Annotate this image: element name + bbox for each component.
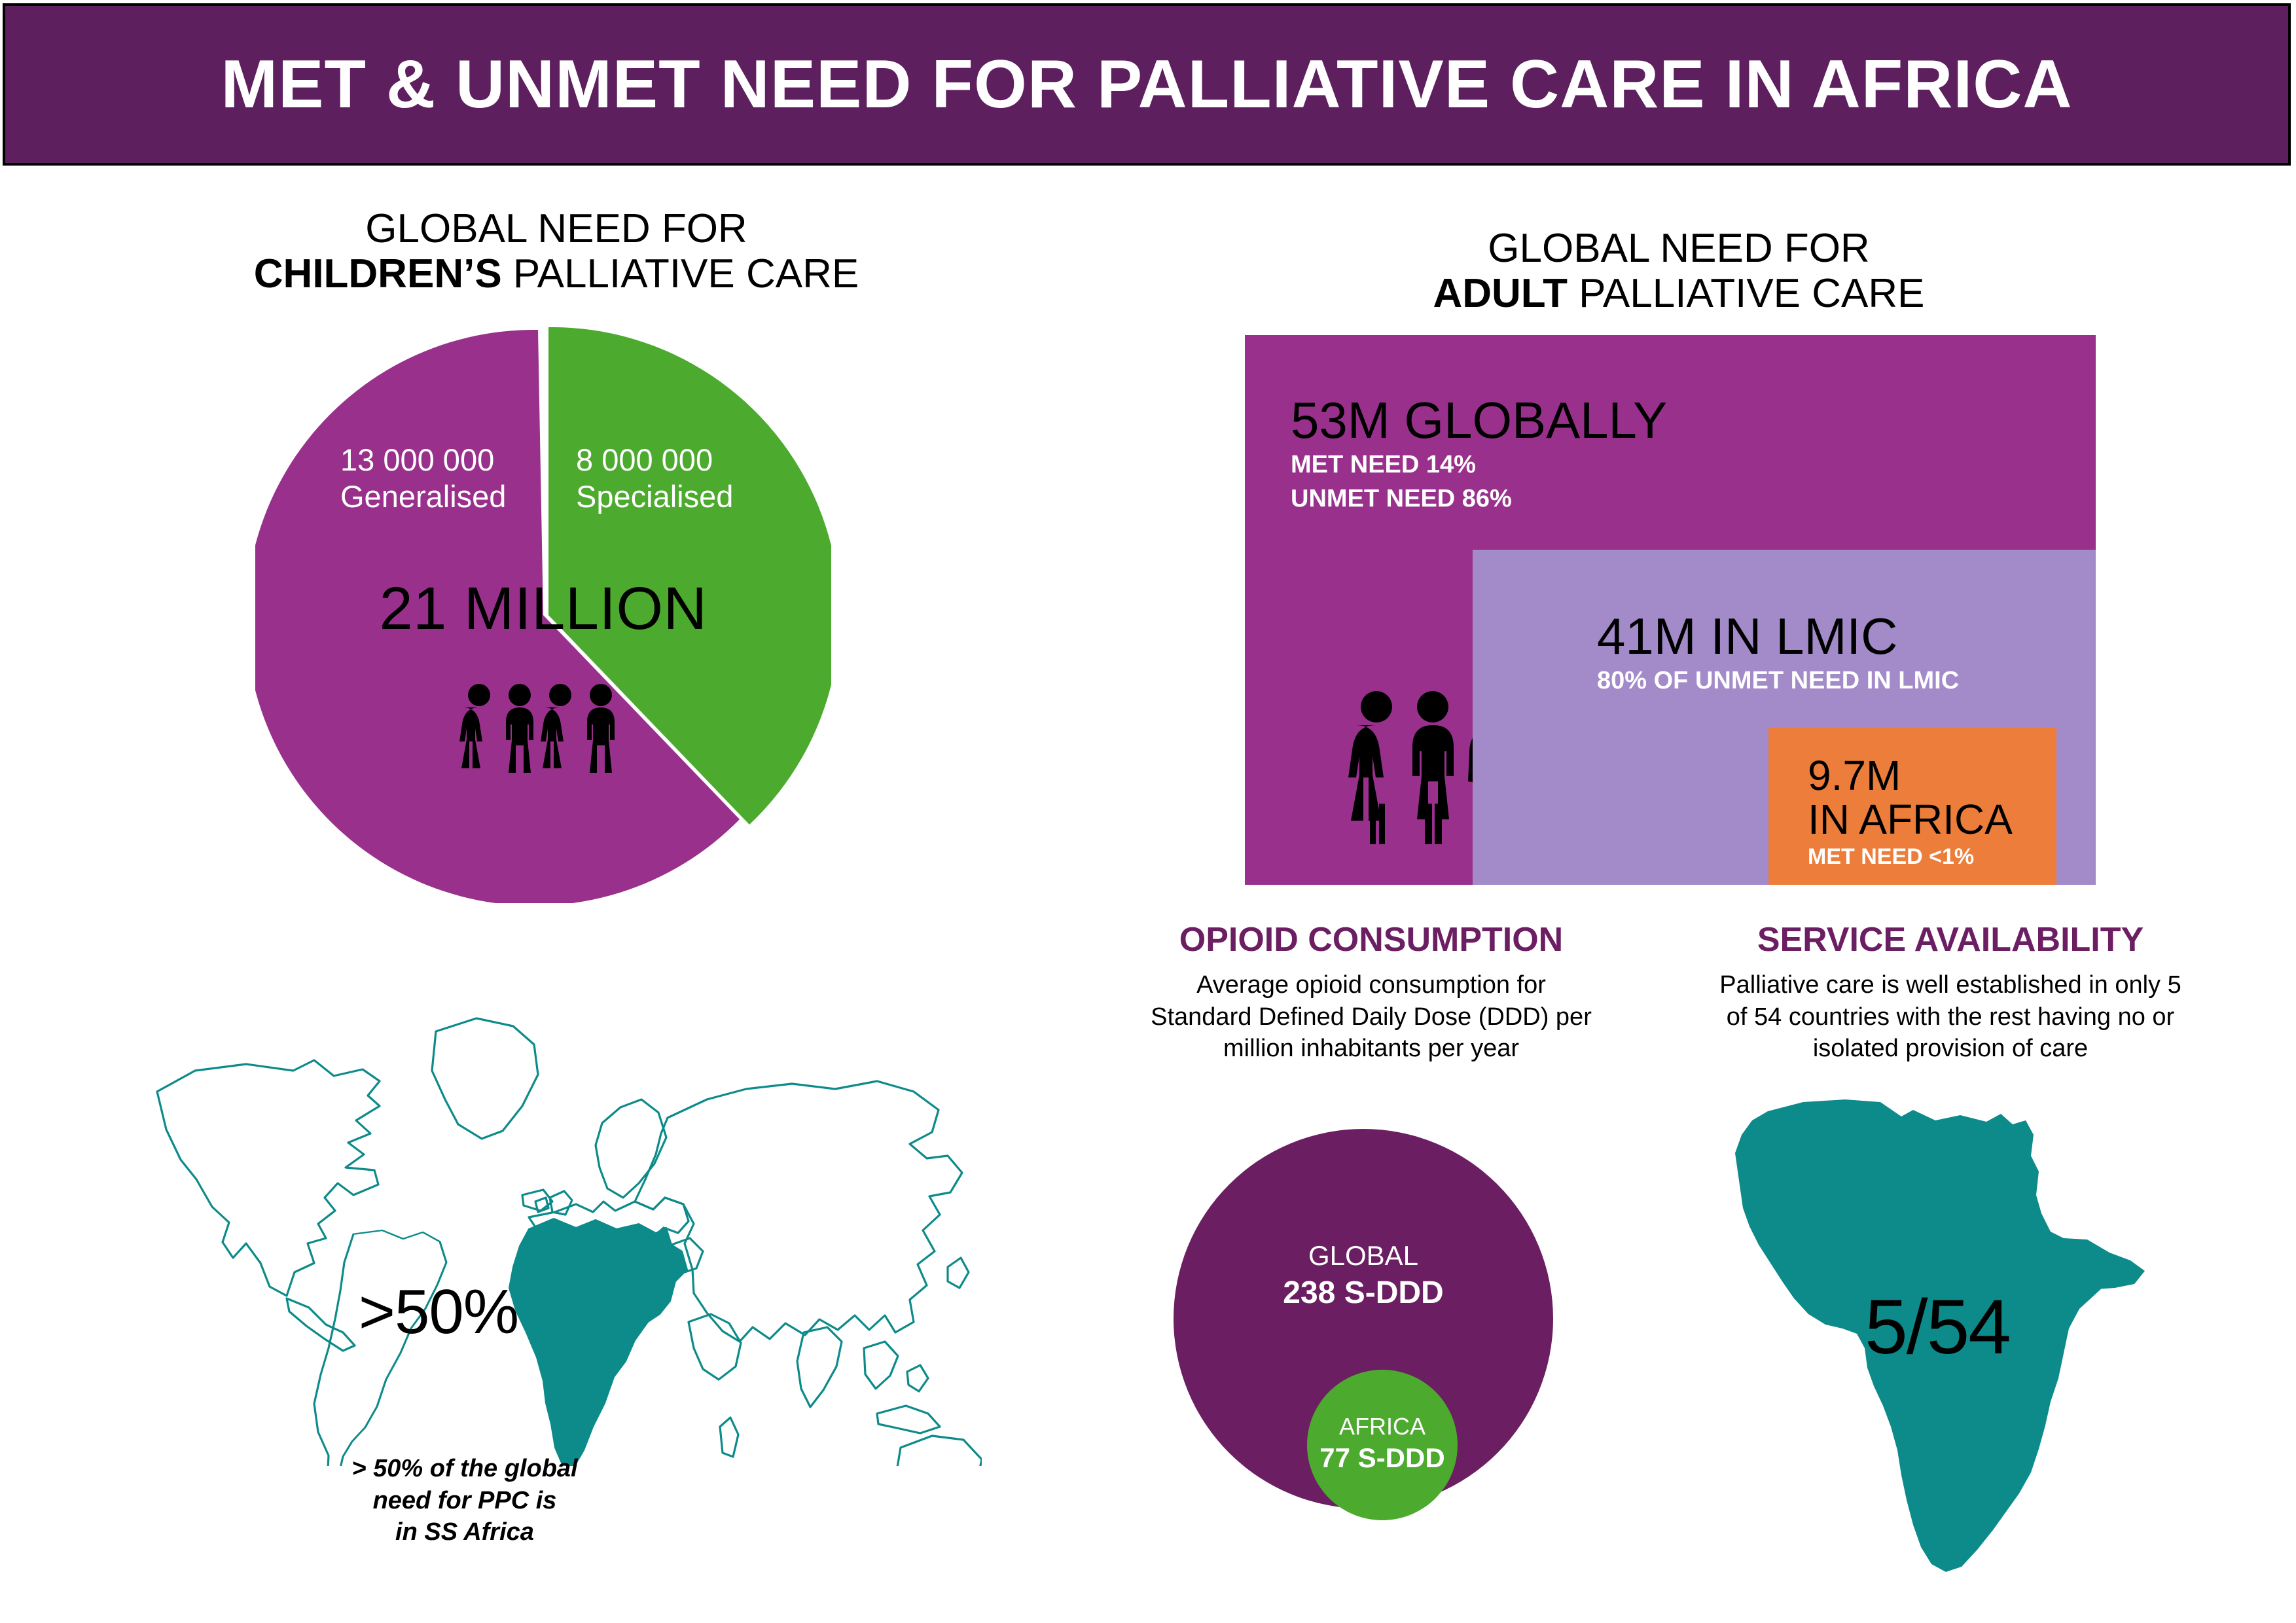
header-banner: MET & UNMET NEED FOR PALLIATIVE CARE IN …	[3, 3, 2291, 166]
africa-circle-label: AFRICA 77 S-DDD	[1307, 1412, 1458, 1476]
world-map-svg	[118, 1008, 982, 1466]
adult-heading-line1: GLOBAL NEED FOR	[1302, 226, 2055, 271]
global-headline: 53M GLOBALLY	[1291, 394, 1667, 448]
global-unmet-need: UNMET NEED 86%	[1291, 482, 1667, 516]
four-children-icon	[255, 681, 831, 782]
africa-circle-name: AFRICA	[1339, 1413, 1426, 1440]
circle-africa-77: AFRICA 77 S-DDD	[1307, 1370, 1458, 1520]
adult-heading-line2: ADULT PALLIATIVE CARE	[1302, 271, 2055, 316]
africa-box-text: 9.7M IN AFRICA MET NEED <1%	[1808, 754, 2013, 872]
service-desc-line1: Palliative care is well established in o…	[1682, 969, 2219, 1001]
australia-outline	[895, 1436, 982, 1466]
service-panel-title: SERVICE AVAILABILITY	[1682, 921, 2219, 959]
children-section-heading: GLOBAL NEED FOR CHILDREN’S PALLIATIVE CA…	[196, 206, 916, 297]
japan-outline	[948, 1258, 969, 1288]
pie-name-generalised: Generalised	[340, 478, 506, 515]
madagascar-outline	[720, 1418, 738, 1457]
world-map-caption: > 50% of the global need for PPC is in S…	[262, 1453, 668, 1548]
adult-heading-bold: ADULT	[1433, 271, 1567, 316]
lmic-box-text: 41M IN LMIC 80% OF UNMET NEED IN LMIC	[1597, 610, 1959, 698]
page-title: MET & UNMET NEED FOR PALLIATIVE CARE IN …	[221, 50, 2073, 118]
global-met-need: MET NEED 14%	[1291, 448, 1667, 482]
opioid-nested-circles: GLOBAL 238 S-DDD AFRICA 77 S-DDD	[1142, 1129, 1587, 1554]
india-outline	[797, 1327, 842, 1407]
map-caption-line1: > 50% of the global	[262, 1453, 668, 1485]
pie-label-specialised: 8 000 000 Specialised	[576, 442, 733, 516]
scandinavia-outline	[596, 1099, 666, 1198]
service-panel-description: Palliative care is well established in o…	[1682, 969, 2219, 1065]
children-heading-bold: CHILDREN’S	[254, 251, 502, 296]
global-circle-label: GLOBAL 238 S-DDD	[1174, 1239, 1553, 1313]
pie-label-generalised: 13 000 000 Generalised	[340, 442, 506, 516]
service-availability-panel: SERVICE AVAILABILITY Palliative care is …	[1682, 921, 2219, 1065]
africa-circle-value: 77 S-DDD	[1307, 1441, 1458, 1476]
south-america-outline	[314, 1230, 446, 1466]
world-map: >50%	[118, 1008, 982, 1479]
opioid-panel-title: OPIOID CONSUMPTION	[1106, 921, 1636, 959]
africa-sub: MET NEED <1%	[1808, 842, 2013, 872]
global-circle-name: GLOBAL	[1308, 1240, 1418, 1271]
southeast-asia-outline	[864, 1342, 898, 1389]
pie-total-label: 21 MILLION	[255, 575, 831, 643]
adult-heading-rest: PALLIATIVE CARE	[1568, 271, 1925, 316]
africa-headline-line2: IN AFRICA	[1808, 798, 2013, 842]
opioid-desc-line3: million inhabitants per year	[1106, 1033, 1636, 1065]
service-ratio-label: 5/54	[1705, 1283, 2170, 1372]
box-africa-9-7m: 9.7M IN AFRICA MET NEED <1%	[1768, 728, 2056, 885]
british-isles-outline	[550, 1191, 572, 1215]
opioid-consumption-panel: OPIOID CONSUMPTION Average opioid consum…	[1106, 921, 1636, 1065]
adult-nested-boxes: 53M GLOBALLY MET NEED 14% UNMET NEED 86%	[1245, 335, 2096, 885]
children-heading-line1: GLOBAL NEED FOR	[196, 206, 916, 251]
global-circle-value: 238 S-DDD	[1174, 1274, 1553, 1313]
lmic-sub: 80% OF UNMET NEED IN LMIC	[1597, 664, 1959, 698]
opioid-desc-line1: Average opioid consumption for	[1106, 969, 1636, 1001]
service-desc-line2: of 54 countries with the rest having no …	[1682, 1001, 2219, 1033]
opioid-desc-line2: Standard Defined Daily Dose (DDD) per	[1106, 1001, 1636, 1033]
children-heading-line2: CHILDREN’S PALLIATIVE CARE	[196, 251, 916, 296]
philippines-outline	[907, 1365, 928, 1391]
lmic-headline: 41M IN LMIC	[1597, 610, 1959, 664]
asia-outline	[635, 1081, 962, 1342]
pie-value-generalised: 13 000 000	[340, 442, 506, 478]
africa-headline-line1: 9.7M	[1808, 754, 2013, 798]
adult-section-heading: GLOBAL NEED FOR ADULT PALLIATIVE CARE	[1302, 226, 2055, 317]
service-desc-line3: isolated provision of care	[1682, 1033, 2219, 1065]
pie-name-specialised: Specialised	[576, 478, 733, 515]
opioid-panel-description: Average opioid consumption for Standard …	[1106, 969, 1636, 1065]
children-pie-chart: 13 000 000 Generalised 8 000 000 Special…	[255, 327, 831, 903]
greenland-outline	[432, 1018, 538, 1139]
children-heading-rest: PALLIATIVE CARE	[502, 251, 859, 296]
map-percent-label: >50%	[308, 1276, 569, 1348]
pie-value-specialised: 8 000 000	[576, 442, 733, 478]
africa-map: 5/54	[1705, 1098, 2170, 1576]
indonesia-outline	[877, 1406, 940, 1433]
north-america-outline	[157, 1060, 380, 1296]
global-box-text: 53M GLOBALLY MET NEED 14% UNMET NEED 86%	[1291, 394, 1667, 516]
arabia-outline	[689, 1314, 741, 1380]
map-caption-line3: in SS Africa	[262, 1516, 668, 1548]
map-caption-line2: need for PPC is	[262, 1485, 668, 1517]
